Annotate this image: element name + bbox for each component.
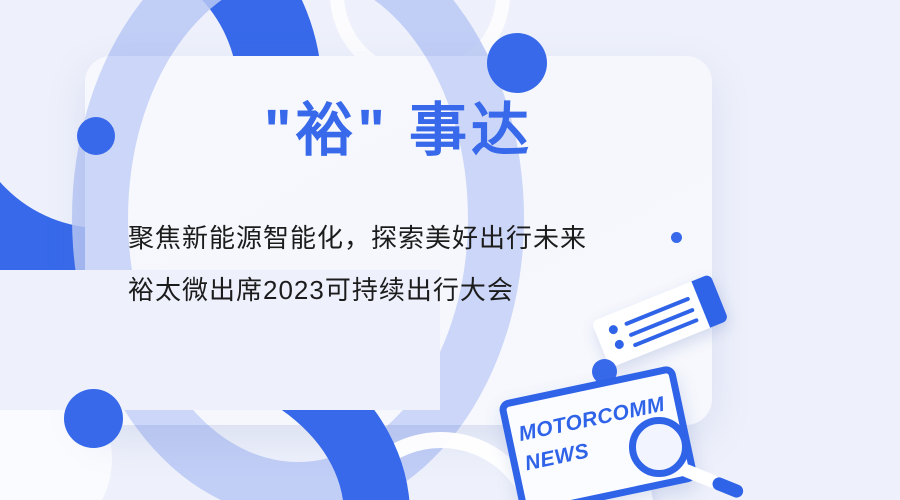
page-title: "裕" 事达 <box>85 96 712 166</box>
blue-dot-right-small <box>671 232 682 243</box>
subtitle-line-1: 聚焦新能源智能化，探索美好出行未来 <box>128 212 668 264</box>
blue-dot-bottom-left <box>64 389 123 448</box>
magnifier-handle-tip <box>711 475 746 499</box>
bullet-dot-icon <box>613 339 625 351</box>
banner-canvas: "裕" 事达 聚焦新能源智能化，探索美好出行未来 裕太微出席2023可持续出行大… <box>0 0 900 500</box>
magnifier-icon <box>629 417 749 497</box>
magnifier-lens <box>629 417 689 477</box>
subtitle-line-2: 裕太微出席2023可持续出行大会 <box>128 264 668 316</box>
subtitle-block: 聚焦新能源智能化，探索美好出行未来 裕太微出席2023可持续出行大会 <box>128 212 668 316</box>
bullet-dot-icon <box>607 324 619 336</box>
blue-dot-top-center <box>487 33 547 93</box>
